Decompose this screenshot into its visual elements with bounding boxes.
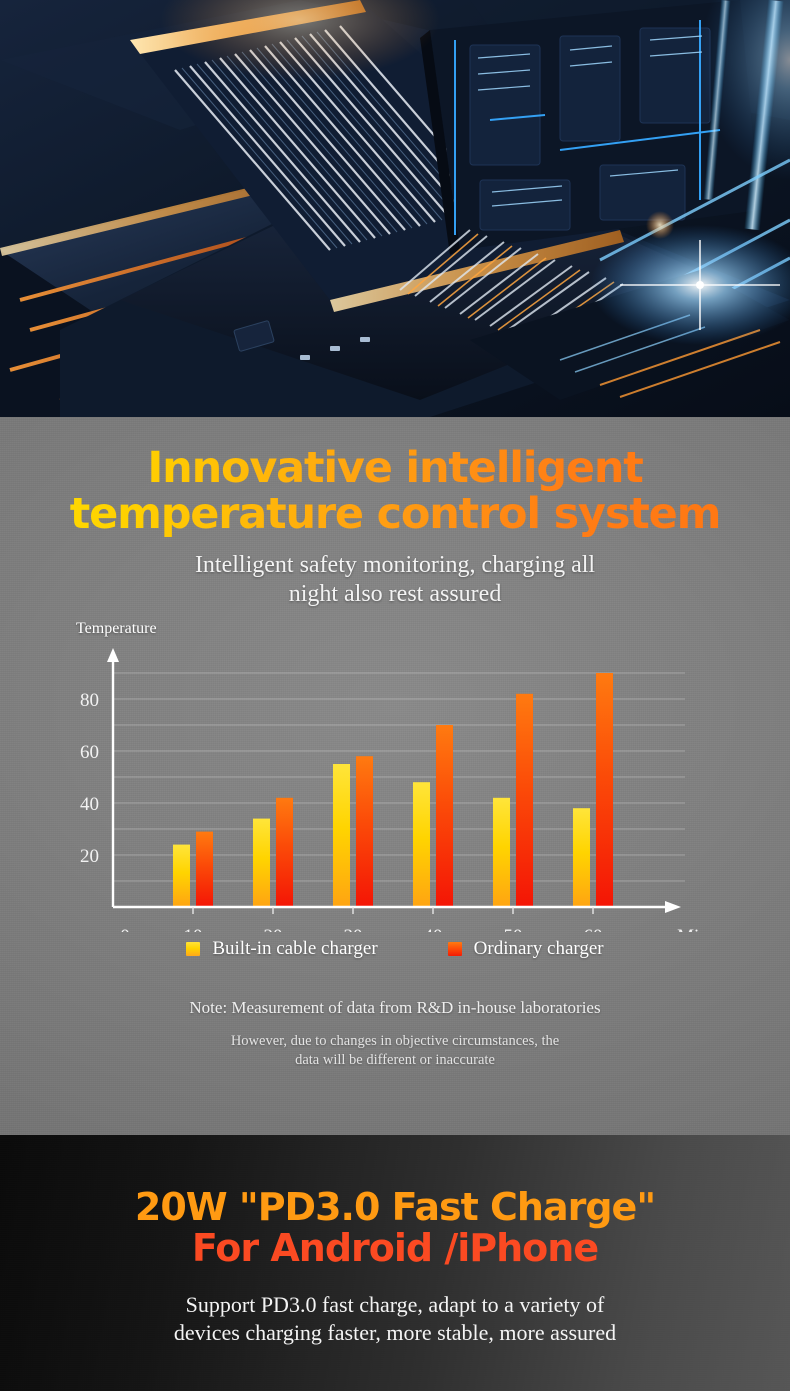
chart-y-tick: 80	[80, 690, 99, 711]
chart-bar	[413, 782, 430, 907]
chart-x-tick: 60	[584, 926, 603, 932]
chart-bar	[276, 797, 293, 906]
legend-swatch-builtin-icon	[186, 942, 200, 956]
chart-note-secondary: However, due to changes in objective cir…	[0, 1032, 790, 1071]
chart-note-primary: Note: Measurement of data from R&D in-ho…	[0, 998, 790, 1018]
chart-x-axis-label: Min	[677, 926, 709, 932]
circuit-board-illustration	[0, 0, 790, 417]
promo-subheadline-line1: Support PD3.0 fast charge, adapt to a va…	[186, 1292, 605, 1317]
legend-label-ordinary: Ordinary charger	[474, 938, 604, 960]
chart-x-tick-origin: 0	[120, 926, 130, 932]
promo-headline-line1: 20W "PD3.0 Fast Charge"	[0, 1187, 790, 1228]
chart-legend: Built-in cable charger Ordinary charger	[0, 938, 790, 960]
chart-x-tick: 10	[184, 926, 203, 932]
chart-x-tick-labels: 0102030405060Min	[120, 907, 709, 932]
promo-subheadline-line2: devices charging faster, more stable, mo…	[174, 1320, 616, 1345]
chart-x-tick: 40	[424, 926, 443, 932]
chart-note-secondary-line1: However, due to changes in objective cir…	[231, 1033, 559, 1049]
temperature-feature-section: Innovative intelligent temperature contr…	[0, 417, 790, 1135]
chart-bar	[253, 818, 270, 906]
chart-note-secondary-line2: data will be different or inaccurate	[295, 1052, 495, 1068]
product-detail-page: Innovative intelligent temperature contr…	[0, 0, 790, 1391]
chart-bar	[356, 756, 373, 907]
chart-bar	[493, 797, 510, 906]
temperature-bar-chart: Temperature	[0, 632, 790, 932]
pd-fast-charge-section: 20W "PD3.0 Fast Charge" For Android /iPh…	[0, 1135, 790, 1391]
promo-headline-line2: For Android /iPhone	[0, 1228, 790, 1269]
hero-image	[0, 0, 790, 417]
chart-x-tick: 50	[504, 926, 523, 932]
legend-item-ordinary: Ordinary charger	[448, 938, 604, 960]
chart-bar	[436, 725, 453, 907]
chart-bar	[573, 808, 590, 907]
chart-svg: 20406080 0102030405060Min	[0, 632, 790, 932]
feature-subheadline: Intelligent safety monitoring, charging …	[0, 551, 790, 610]
chart-bar	[596, 673, 613, 907]
chart-y-tick-labels: 20406080	[80, 690, 99, 867]
promo-subheadline: Support PD3.0 fast charge, adapt to a va…	[0, 1291, 790, 1346]
chart-bar	[196, 831, 213, 906]
chart-x-tick: 30	[344, 926, 363, 932]
feature-subheadline-line1: Intelligent safety monitoring, charging …	[195, 552, 595, 578]
chart-bar	[516, 693, 533, 906]
legend-item-builtin: Built-in cable charger	[186, 938, 377, 960]
chart-plot-area: 20406080 0102030405060Min	[0, 632, 790, 932]
feature-headline-line2: temperature control system	[0, 491, 790, 537]
legend-swatch-ordinary-icon	[448, 942, 462, 956]
chart-bars	[173, 673, 613, 907]
chart-y-tick: 40	[80, 794, 99, 815]
chart-y-tick: 20	[80, 846, 99, 867]
chart-bar	[173, 844, 190, 906]
promo-headline: 20W "PD3.0 Fast Charge" For Android /iPh…	[0, 1135, 790, 1269]
feature-headline: Innovative intelligent temperature contr…	[0, 417, 790, 537]
feature-headline-line1: Innovative intelligent	[147, 443, 642, 493]
feature-subheadline-line2: night also rest assured	[289, 581, 502, 607]
chart-y-tick: 60	[80, 742, 99, 763]
chart-x-tick: 20	[264, 926, 283, 932]
legend-label-builtin: Built-in cable charger	[212, 938, 377, 960]
chart-bar	[333, 764, 350, 907]
